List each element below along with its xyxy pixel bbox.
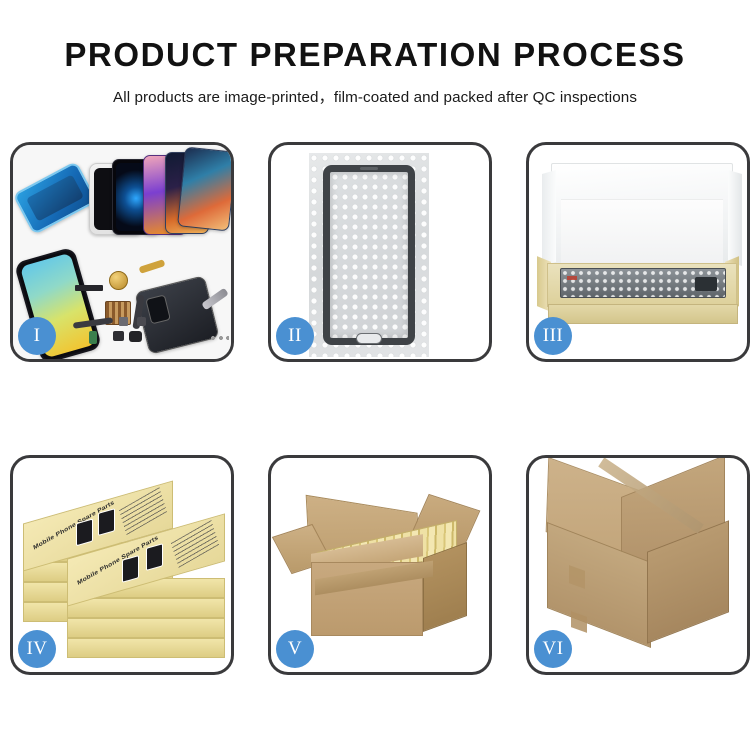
step-panel-6[interactable]: VI	[526, 455, 750, 675]
header: PRODUCT PREPARATION PROCESS All products…	[0, 0, 750, 107]
step-badge-1: I	[18, 317, 56, 355]
small-part-4	[137, 317, 146, 326]
step-panel-4[interactable]: Mobile Phone Spare Parts Mobile Pho	[10, 455, 234, 675]
stacked-box	[67, 618, 225, 638]
steps-row-1: I II	[10, 142, 740, 362]
kraft-box-tray	[547, 263, 737, 307]
phone-gradient	[177, 147, 231, 232]
steps-row-2: Mobile Phone Spare Parts Mobile Pho	[10, 455, 740, 675]
product-preparation-infographic: PRODUCT PREPARATION PROCESS All products…	[0, 0, 750, 750]
connector-bar	[75, 285, 103, 291]
page-title: PRODUCT PREPARATION PROCESS	[0, 36, 750, 74]
stacked-box	[67, 638, 225, 658]
small-part-3	[129, 331, 142, 342]
home-button	[356, 333, 382, 344]
foam-padding	[561, 199, 723, 269]
step-panel-5[interactable]: V	[268, 455, 492, 675]
step-panel-3[interactable]: III	[526, 142, 750, 362]
box-spec-lines	[171, 520, 219, 568]
page-subtitle: All products are image-printed，film-coat…	[0, 85, 750, 107]
step-badge-5: V	[276, 630, 314, 668]
step-badge-6: VI	[534, 630, 572, 668]
box-thumbnail	[122, 555, 139, 583]
steps-grid: I II	[10, 142, 740, 675]
step-badge-4: IV	[18, 630, 56, 668]
small-part-1	[89, 331, 97, 344]
box-thumbnail	[146, 543, 163, 571]
carton-side	[423, 542, 467, 632]
step-panel-2[interactable]: II	[268, 142, 492, 362]
stacked-box	[67, 598, 225, 618]
box-thumbnail	[98, 508, 115, 536]
wrapped-phone-screen	[323, 165, 415, 345]
small-part-5	[119, 317, 128, 326]
packed-screen	[560, 268, 726, 298]
box-thumbnail	[76, 518, 93, 546]
earpiece-slot	[360, 167, 378, 170]
speaker-part	[109, 271, 128, 290]
step-badge-3: III	[534, 317, 572, 355]
box-spec-lines	[119, 487, 167, 535]
step-badge-2: II	[276, 317, 314, 355]
box-front-panel	[548, 304, 738, 324]
step-panel-1[interactable]: I	[10, 142, 234, 362]
small-part-2	[113, 331, 124, 341]
screws-group	[209, 333, 229, 343]
